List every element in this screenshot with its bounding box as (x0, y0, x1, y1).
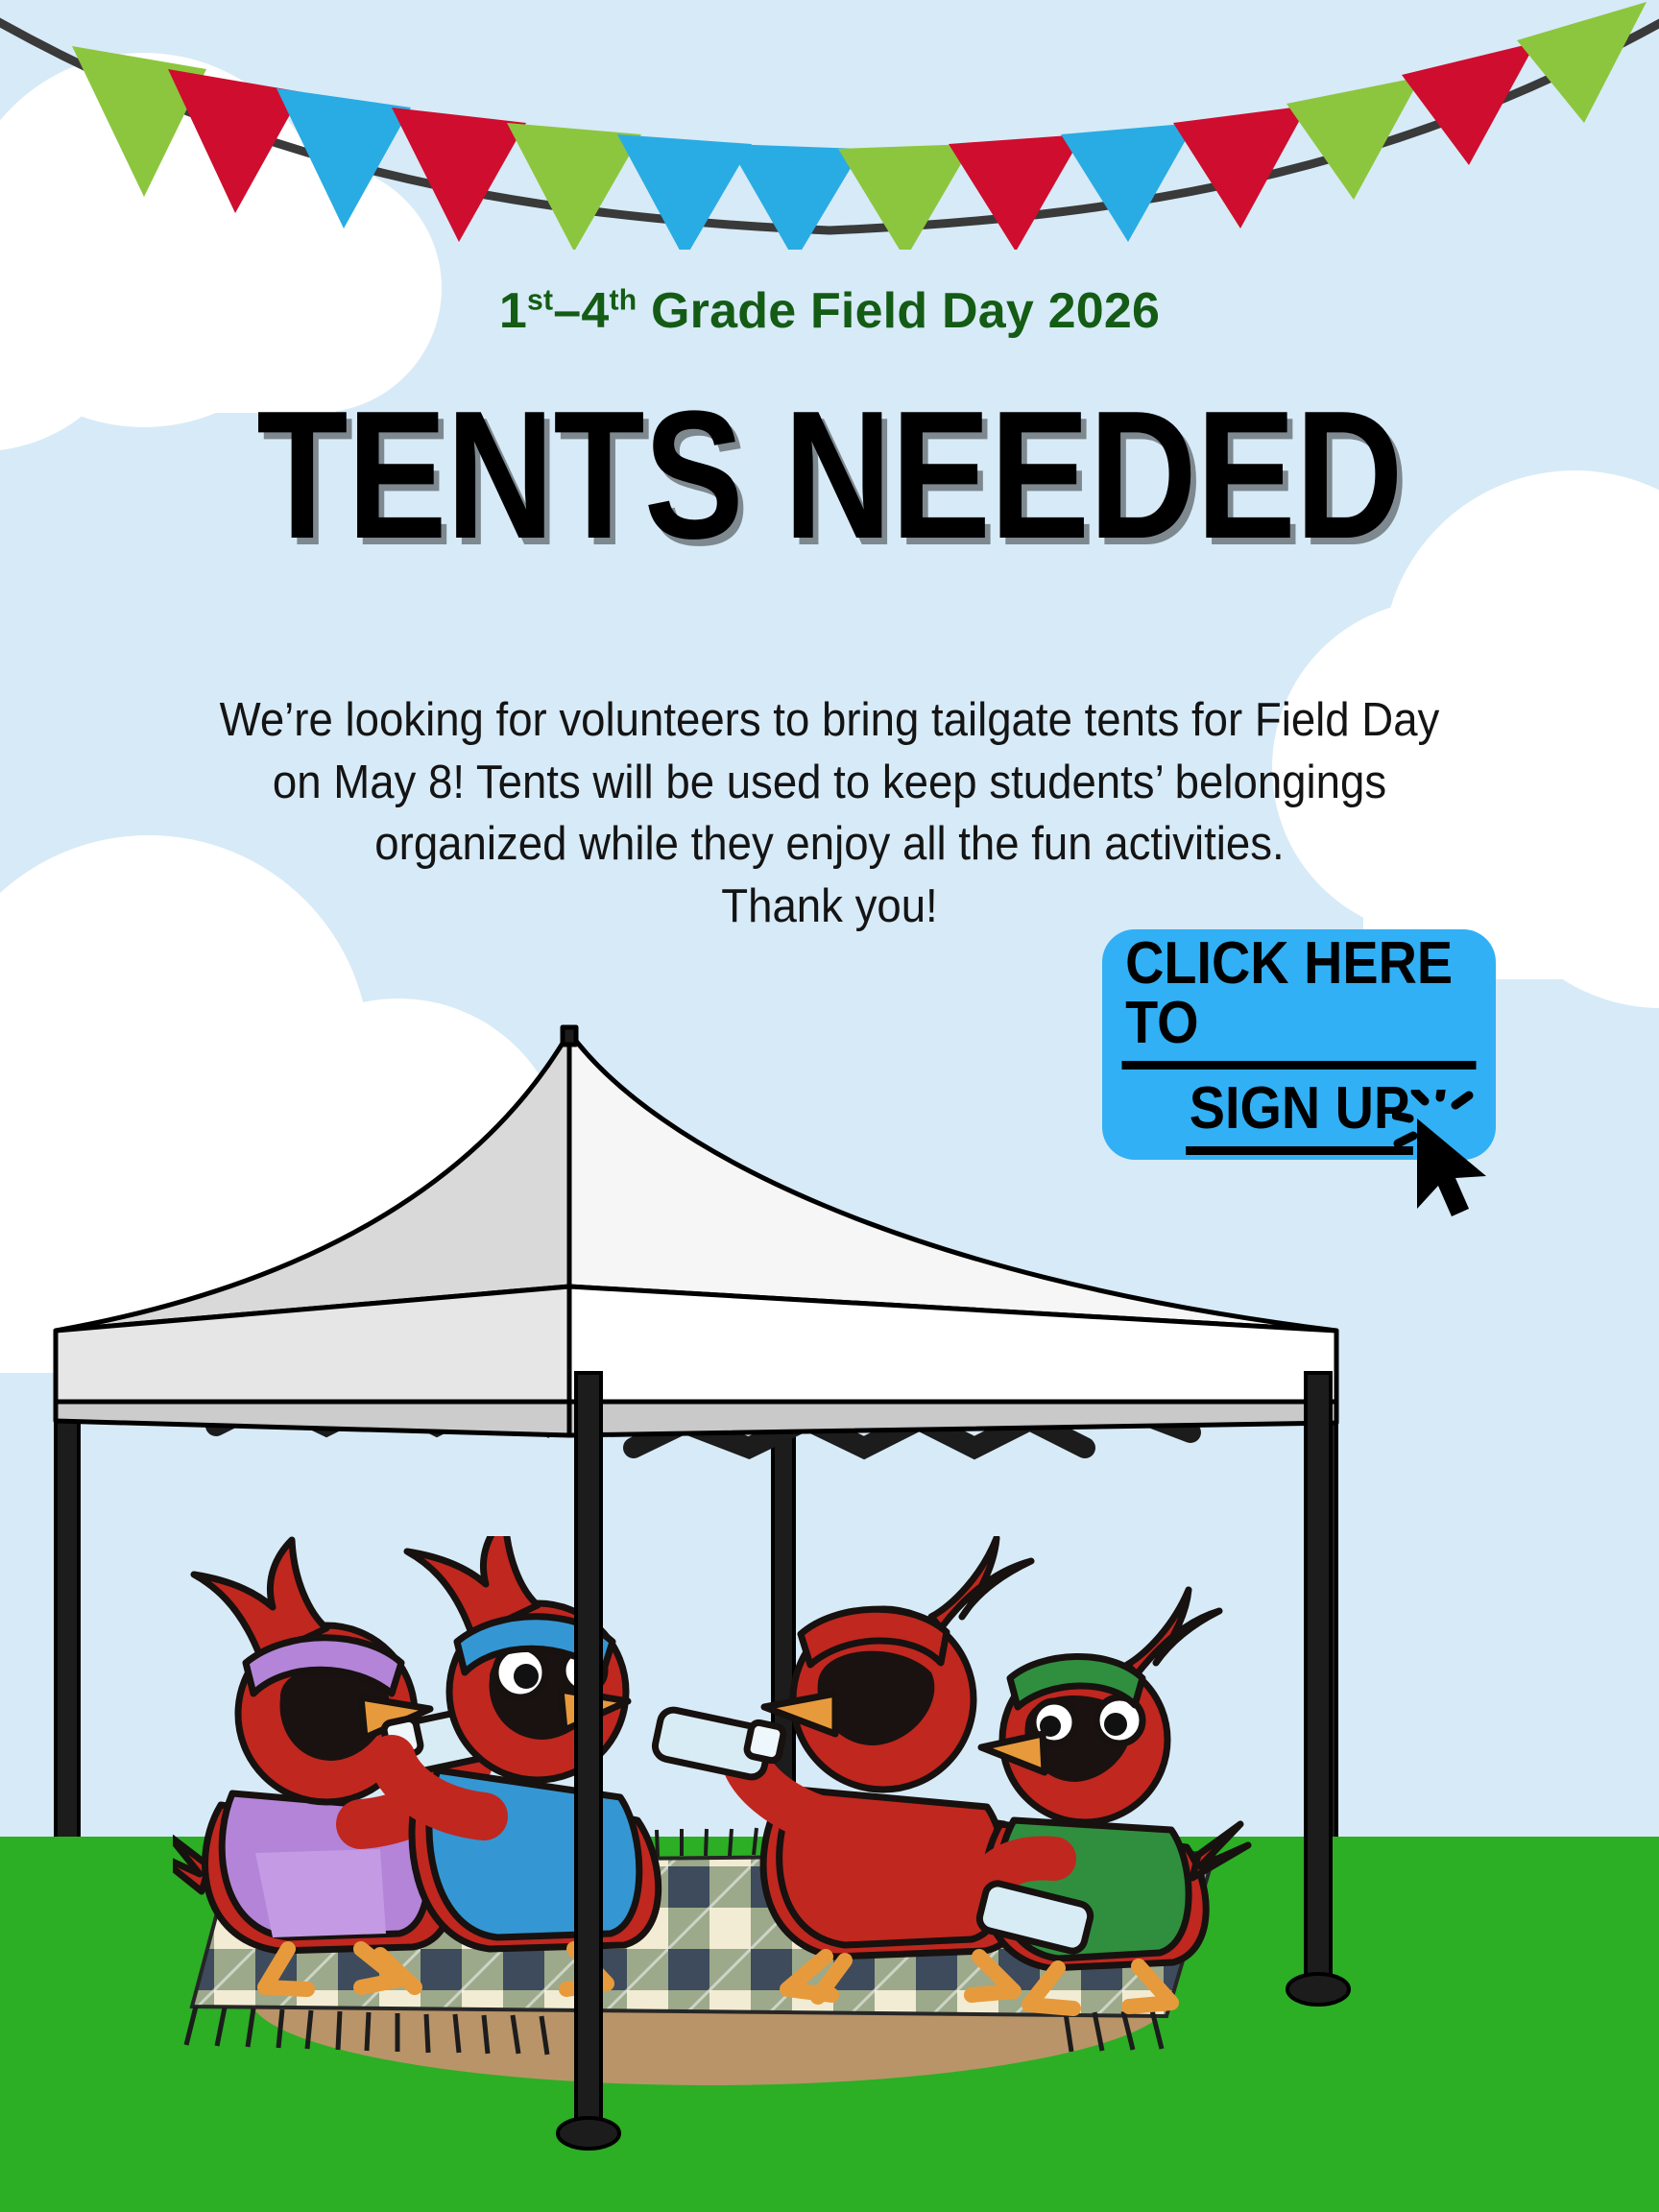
bunting-flag-3 (276, 88, 411, 228)
bunting-flag-14 (1517, 2, 1647, 123)
bunting-flag-9 (949, 134, 1083, 250)
bunting-flag-5 (507, 123, 641, 250)
grade-dash: –4 (553, 283, 609, 339)
body-line-2: on May 8! Tents will be used to keep stu… (103, 752, 1556, 814)
tent-right-leg (1306, 1373, 1331, 1987)
tent-front-foot (558, 2118, 619, 2149)
cta-line-1: CLICK HERE TO (1122, 934, 1477, 1070)
body-line-3: organized while they enjoy all the fun a… (103, 813, 1556, 876)
poster-canvas: 1st–4th Grade Field Day 2026 TENTS NEEDE… (0, 0, 1659, 2212)
page-title: TENTS NEEDED (150, 384, 1510, 566)
bunting-flag-1 (72, 46, 206, 197)
bunting-flag-8 (838, 144, 973, 250)
bunting-flag-10 (1061, 123, 1195, 242)
body-line-1: We’re looking for volunteers to bring ta… (103, 689, 1556, 752)
bunting-flag-13 (1402, 42, 1536, 165)
tent-right-foot (1287, 1974, 1349, 2005)
bunting-banner (0, 0, 1659, 250)
sign-up-button[interactable]: CLICK HERE TO SIGN UP (1102, 929, 1496, 1160)
event-title-text: 1 (499, 283, 527, 339)
bunting-flag-6 (617, 134, 752, 250)
ordinal-th: th (610, 285, 637, 317)
tent-front-leg (576, 1373, 601, 2131)
bunting-flag-4 (392, 108, 526, 242)
event-title: 1st–4th Grade Field Day 2026 (0, 282, 1659, 340)
body-copy: We’re looking for volunteers to bring ta… (103, 689, 1556, 938)
tent-front-leg-layer (0, 989, 1659, 2212)
ordinal-st: st (527, 285, 553, 317)
bunting-flags (72, 2, 1647, 250)
body-line-4: Thank you! (103, 876, 1556, 938)
cta-line-2: SIGN UP (1186, 1079, 1413, 1155)
event-title-rest: Grade Field Day 2026 (637, 283, 1160, 339)
